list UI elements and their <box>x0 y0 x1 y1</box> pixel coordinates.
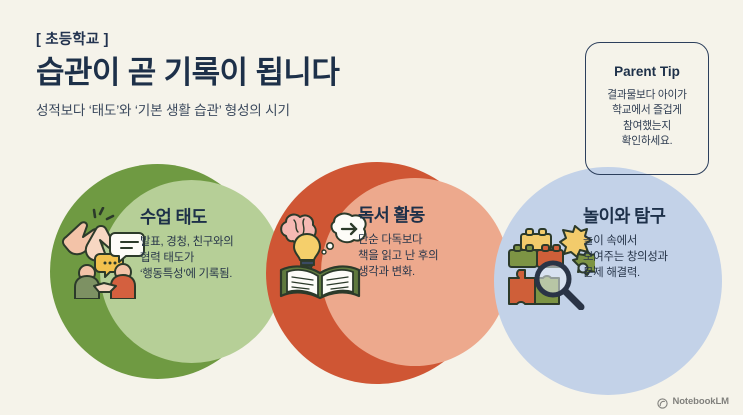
card-attitude-title: 수업 태도 <box>140 209 265 227</box>
page-subtitle: 성적보다 ‘태도’와 ‘기본 생활 습관’ 형성의 시기 <box>36 103 456 120</box>
footer-brand-label: NotebookLM <box>672 397 729 407</box>
card-attitude-body: 발표, 경청, 친구와의 협력 태도가 ‘행동특성’에 기록됨. <box>140 234 265 283</box>
card-reading-text: 독서 활동 단순 다독보다 책을 읽고 난 후의 생각과 변화. <box>358 207 483 280</box>
card-play-title: 놀이와 탐구 <box>583 208 713 226</box>
header: [ 초등학교 ] 습관이 곧 기록이 됩니다 성적보다 ‘태도’와 ‘기본 생활… <box>36 33 456 120</box>
notebooklm-logo-icon <box>657 396 668 407</box>
parent-tip-box: Parent Tip 결과물보다 아이가 학교에서 즐겁게 참여했는지 확인하세… <box>585 42 709 175</box>
card-play-text: 놀이와 탐구 놀이 속에서 보여주는 창의성과 문제 해결력. <box>583 208 713 281</box>
clapping-handshake-icon <box>60 207 152 299</box>
blocks-puzzle-magnifier-icon <box>505 222 595 310</box>
card-play-body: 놀이 속에서 보여주는 창의성과 문제 해결력. <box>583 233 713 282</box>
page-title: 습관이 곧 기록이 됩니다 <box>36 56 456 91</box>
parent-tip-body: 결과물보다 아이가 학교에서 즐겁게 참여했는지 확인하세요. <box>607 88 686 150</box>
footer-brand: NotebookLM <box>657 396 729 407</box>
book-lightbulb-brain-icon <box>276 208 370 300</box>
infographic-canvas: [ 초등학교 ] 습관이 곧 기록이 됩니다 성적보다 ‘태도’와 ‘기본 생활… <box>0 0 743 415</box>
parent-tip-title: Parent Tip <box>614 65 680 79</box>
card-reading-body: 단순 다독보다 책을 읽고 난 후의 생각과 변화. <box>358 232 483 281</box>
card-reading-title: 독서 활동 <box>358 207 483 225</box>
card-attitude-text: 수업 태도 발표, 경청, 친구와의 협력 태도가 ‘행동특성’에 기록됨. <box>140 209 265 282</box>
kicker-label: [ 초등학교 ] <box>36 33 456 49</box>
